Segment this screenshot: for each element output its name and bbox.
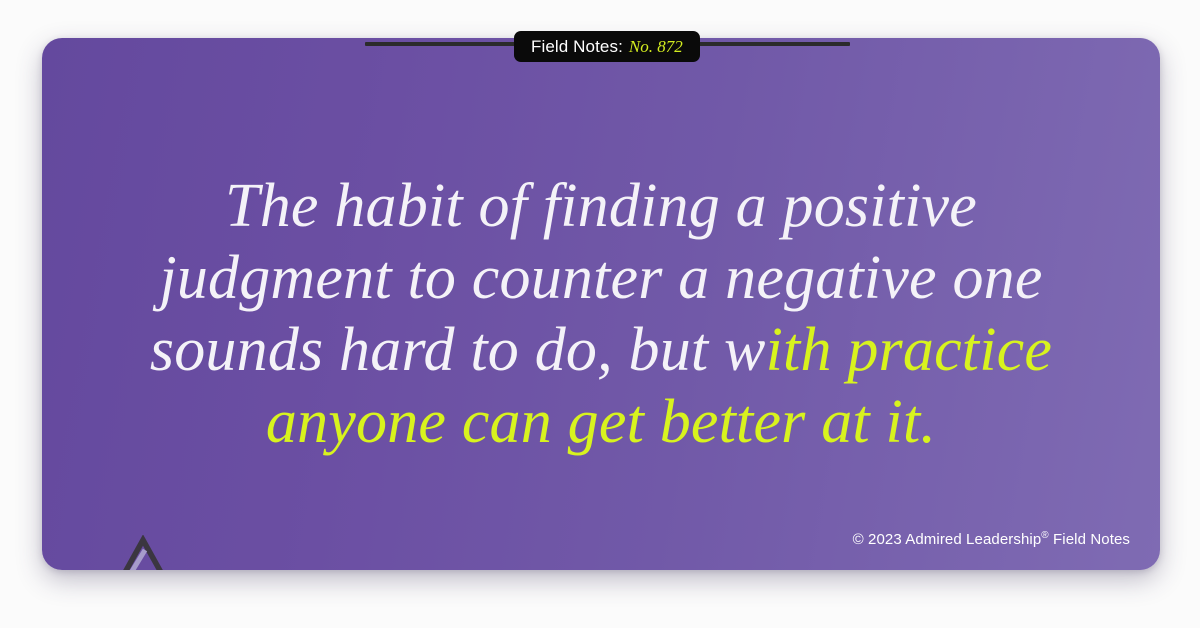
admired-leadership-logo-icon bbox=[120, 535, 166, 570]
screenshot-stage: The habit of finding a positive judgment… bbox=[0, 0, 1200, 628]
badge-note-number: No. 872 bbox=[629, 38, 683, 55]
registered-trademark-mark: ® bbox=[1041, 530, 1048, 541]
copyright-prefix: © 2023 Admired Leadership bbox=[853, 531, 1042, 548]
quote-text: The habit of finding a positive judgment… bbox=[42, 170, 1160, 458]
quote-card: The habit of finding a positive judgment… bbox=[42, 38, 1160, 570]
copyright-suffix: Field Notes bbox=[1049, 531, 1130, 548]
copyright-notice: © 2023 Admired Leadership® Field Notes bbox=[853, 531, 1130, 548]
badge-label: Field Notes: bbox=[531, 38, 623, 55]
field-notes-badge: Field Notes: No. 872 bbox=[514, 31, 700, 62]
